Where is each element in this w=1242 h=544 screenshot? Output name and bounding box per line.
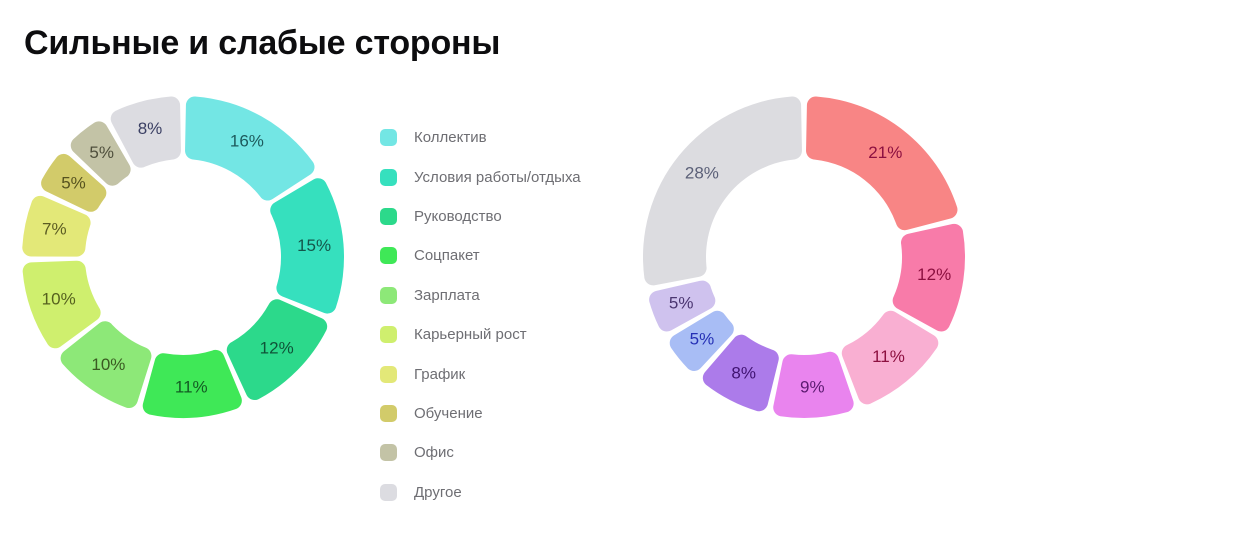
legend-item-label: Соцпакет [414, 247, 480, 264]
donut-slice-label: 7% [42, 220, 67, 239]
legend-item[interactable]: Зарплата [380, 276, 581, 315]
donut-slice[interactable]: 11% [842, 311, 939, 405]
legend-item[interactable]: Руководство [380, 197, 581, 236]
legend-item[interactable]: Офис [380, 433, 581, 472]
donut-slice[interactable]: 12% [227, 299, 327, 400]
donut-slice-label: 9% [800, 378, 825, 397]
donut-slice-label: 28% [685, 164, 719, 183]
legend-item[interactable]: Условия работы/отдыха [380, 157, 581, 196]
legend-item-label: Коллектив [414, 129, 487, 146]
donut-svg-weaknesses: 21%12%11%9%8%5%5%28% [643, 96, 965, 418]
legend-swatch-icon [380, 287, 397, 304]
donut-slice[interactable]: 11% [143, 350, 242, 418]
legend-item[interactable]: Другое [380, 473, 581, 512]
donut-slice[interactable]: 9% [773, 352, 853, 418]
legend-item[interactable]: Коллектив [380, 118, 581, 157]
donut-svg-strengths: 16%15%12%11%10%10%7%5%5%8% [22, 96, 344, 418]
legend-item-label: Обучение [414, 405, 483, 422]
donut-slice-label: 5% [690, 329, 715, 348]
donut-slice[interactable]: 28% [643, 96, 802, 285]
legend-item-label: Офис [414, 444, 454, 461]
donut-slice[interactable]: 16% [185, 96, 314, 200]
donut-slice-label: 8% [138, 119, 163, 138]
legend-item-label: График [414, 366, 465, 383]
legend-item[interactable]: Обучение [380, 394, 581, 433]
donut-slice[interactable]: 12% [893, 224, 965, 332]
legend-swatch-icon [380, 326, 397, 343]
donut-slice-label: 11% [175, 378, 208, 397]
legend-swatch-icon [380, 405, 397, 422]
donut-slice-label: 10% [42, 289, 76, 308]
legend-item-label: Другое [414, 484, 462, 501]
legend-strengths: КоллективУсловия работы/отдыхаРуководств… [380, 118, 581, 512]
legend-swatch-icon [380, 484, 397, 501]
legend-item-label: Зарплата [414, 287, 480, 304]
page-root: Сильные и слабые стороны 16%15%12%11%10%… [0, 0, 1242, 544]
legend-item[interactable]: Соцпакет [380, 236, 581, 275]
legend-item[interactable]: Карьерный рост [380, 315, 581, 354]
donut-slice-label: 15% [297, 236, 331, 255]
donut-slice-label: 5% [89, 143, 114, 162]
donut-slice-shape [643, 96, 802, 285]
legend-item-label: Карьерный рост [414, 326, 527, 343]
donut-slice-shape [806, 96, 957, 230]
legend-swatch-icon [380, 444, 397, 461]
donut-chart-strengths: 16%15%12%11%10%10%7%5%5%8% [22, 96, 344, 418]
donut-slice-label: 12% [917, 265, 951, 284]
donut-slice-label: 10% [91, 355, 125, 374]
legend-item-label: Условия работы/отдыха [414, 169, 581, 186]
donut-slice-label: 8% [731, 363, 756, 382]
legend-item-label: Руководство [414, 208, 502, 225]
legend-swatch-icon [380, 247, 397, 264]
legend-item[interactable]: График [380, 354, 581, 393]
donut-slice[interactable]: 21% [806, 96, 957, 230]
legend-swatch-icon [380, 169, 397, 186]
legend-swatch-icon [380, 208, 397, 225]
donut-chart-weaknesses: 21%12%11%9%8%5%5%28% [643, 96, 965, 418]
donut-slice-label: 5% [669, 293, 694, 312]
donut-slice-label: 16% [230, 132, 264, 151]
legend-swatch-icon [380, 129, 397, 146]
donut-slice-label: 21% [868, 143, 902, 162]
donut-slice-label: 12% [260, 339, 294, 358]
legend-swatch-icon [380, 366, 397, 383]
donut-slice-label: 11% [872, 347, 905, 366]
page-title: Сильные и слабые стороны [24, 22, 500, 64]
donut-slice-label: 5% [61, 174, 86, 193]
donut-slice[interactable]: 15% [270, 178, 344, 313]
